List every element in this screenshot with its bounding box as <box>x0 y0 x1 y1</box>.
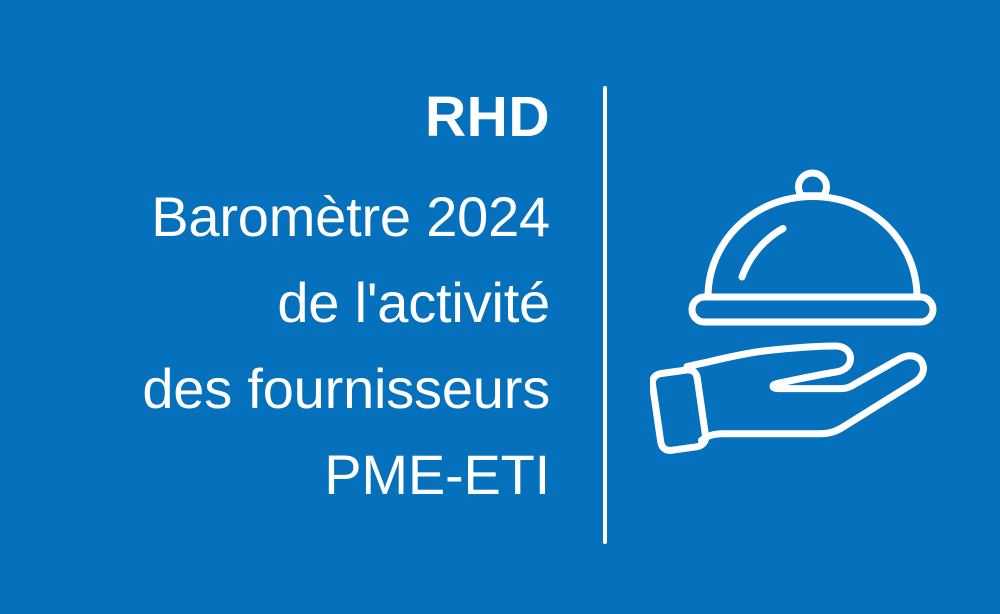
subtitle-lines: Baromètre 2024 de l'activité des fournis… <box>60 174 550 518</box>
subtitle-line-1: Baromètre 2024 <box>60 174 550 260</box>
dome-highlight-icon <box>742 229 783 278</box>
tray-bar-icon <box>692 297 933 322</box>
dome-icon <box>708 197 917 298</box>
cloche-on-hand-icon <box>650 150 960 460</box>
brand-title: RHD <box>60 86 550 148</box>
subtitle-line-2: de l'activité <box>60 260 550 346</box>
hand-cuff-icon <box>652 370 705 451</box>
poster-canvas: RHD Baromètre 2024 de l'activité des fou… <box>0 0 1000 614</box>
dome-knob-icon <box>799 173 827 196</box>
subtitle-line-4: PME-ETI <box>60 432 550 518</box>
hand-icon <box>687 346 923 441</box>
vertical-divider <box>603 86 607 544</box>
subtitle-line-3: des fournisseurs <box>60 346 550 432</box>
title-text-block: RHD Baromètre 2024 de l'activité des fou… <box>60 86 550 518</box>
